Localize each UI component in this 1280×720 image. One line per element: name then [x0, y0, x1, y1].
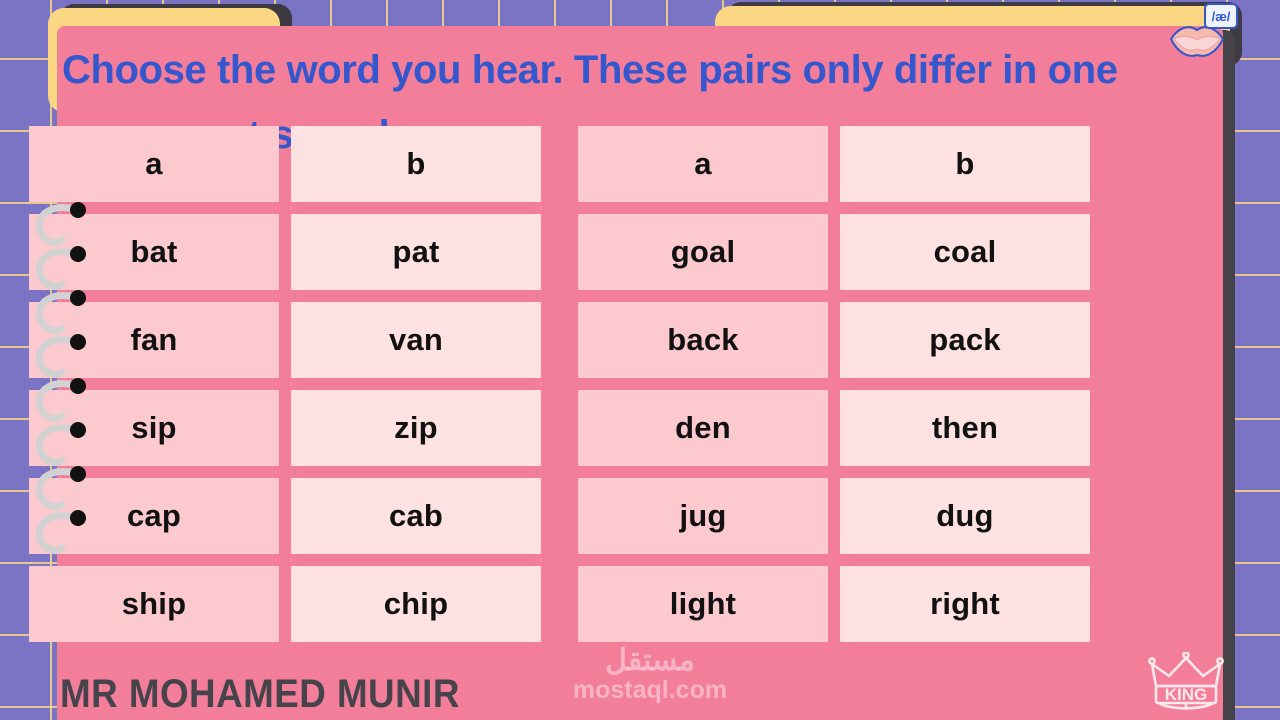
table-row: goalcoal: [578, 214, 1090, 290]
crown-icon: KING: [1147, 652, 1225, 714]
word-cell[interactable]: cab: [291, 478, 541, 554]
word-cell[interactable]: goal: [578, 214, 828, 290]
table-row: shipchip: [29, 566, 541, 642]
column-header-b: b: [840, 126, 1090, 202]
word-cell[interactable]: ship: [29, 566, 279, 642]
word-pairs-grid: abbatpatfanvansipzipcapcabshipchipabgoal…: [29, 126, 1137, 642]
phoneme-badge: /æ/: [1204, 3, 1238, 29]
table-row: denthen: [578, 390, 1090, 466]
table-row: jugdug: [578, 478, 1090, 554]
table-header-row: ab: [578, 126, 1090, 202]
word-cell[interactable]: pat: [291, 214, 541, 290]
spiral-binding-icon: [28, 196, 90, 566]
author-name: MR MOHAMED MUNIR: [60, 672, 460, 717]
word-cell[interactable]: then: [840, 390, 1090, 466]
table-row: capcab: [29, 478, 541, 554]
word-cell[interactable]: back: [578, 302, 828, 378]
column-header-b: b: [291, 126, 541, 202]
word-cell[interactable]: light: [578, 566, 828, 642]
word-cell[interactable]: jug: [578, 478, 828, 554]
table-row: sipzip: [29, 390, 541, 466]
word-cell[interactable]: chip: [291, 566, 541, 642]
column-header-a: a: [578, 126, 828, 202]
table-row: lightright: [578, 566, 1090, 642]
word-cell[interactable]: right: [840, 566, 1090, 642]
column-header-a: a: [29, 126, 279, 202]
right-table: abgoalcoalbackpackdenthenjugduglightrigh…: [578, 126, 1090, 642]
table-row: fanvan: [29, 302, 541, 378]
left-table: abbatpatfanvansipzipcapcabshipchip: [29, 126, 541, 642]
table-row: batpat: [29, 214, 541, 290]
crown-logo-text: KING: [1165, 685, 1208, 704]
table-header-row: ab: [29, 126, 541, 202]
word-cell[interactable]: van: [291, 302, 541, 378]
word-cell[interactable]: pack: [840, 302, 1090, 378]
word-cell[interactable]: coal: [840, 214, 1090, 290]
slide-canvas: Choose the word you hear. These pairs on…: [0, 0, 1280, 720]
word-cell[interactable]: dug: [840, 478, 1090, 554]
table-row: backpack: [578, 302, 1090, 378]
word-cell[interactable]: zip: [291, 390, 541, 466]
word-cell[interactable]: den: [578, 390, 828, 466]
